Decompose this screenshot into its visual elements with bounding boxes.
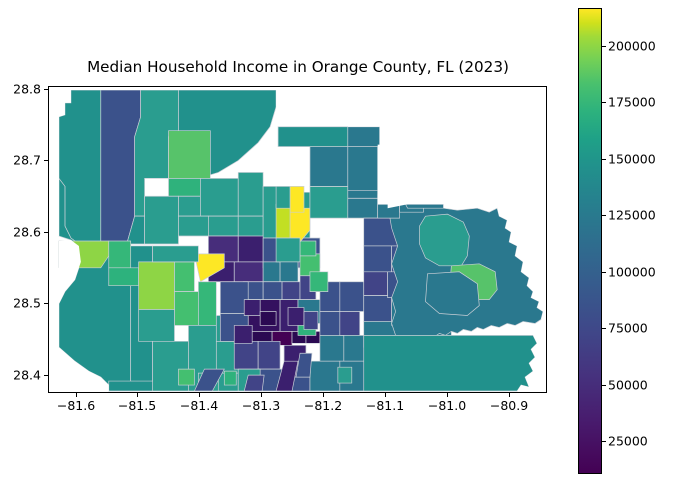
colorbar-ticklabel-25000: 25000 — [608, 434, 648, 449]
x-tick-6 — [447, 393, 448, 397]
x-ticklabel-2: −81.4 — [180, 398, 218, 413]
x-ticklabel-1: −81.5 — [118, 398, 156, 413]
x-ticklabel-6: −81.0 — [428, 398, 466, 413]
colorbar-tick-125000 — [602, 215, 606, 216]
colorbar-ticklabel-200000: 200000 — [608, 39, 656, 54]
x-tick-2 — [199, 393, 200, 397]
x-tick-0 — [76, 393, 77, 397]
colorbar-tick-175000 — [602, 102, 606, 103]
colorbar-tick-50000 — [602, 385, 606, 386]
map-axes — [48, 86, 547, 393]
y-ticklabel-3: 28.5 — [13, 296, 41, 311]
colorbar-ticklabel-75000: 75000 — [608, 321, 648, 336]
y-ticklabel-1: 28.7 — [13, 153, 41, 168]
x-tick-3 — [261, 393, 262, 397]
y-tick-3 — [44, 303, 48, 304]
x-tick-1 — [137, 393, 138, 397]
x-ticklabel-4: −81.2 — [304, 398, 342, 413]
colorbar-tick-25000 — [602, 441, 606, 442]
x-ticklabel-7: −80.9 — [490, 398, 528, 413]
y-tick-2 — [44, 232, 48, 233]
colorbar-ticklabel-175000: 175000 — [608, 95, 656, 110]
x-tick-4 — [323, 393, 324, 397]
y-tick-1 — [44, 160, 48, 161]
x-tick-7 — [509, 393, 510, 397]
y-ticklabel-0: 28.8 — [13, 82, 41, 97]
choropleth-map — [49, 87, 546, 392]
y-ticklabel-4: 28.4 — [13, 368, 41, 383]
x-tick-5 — [385, 393, 386, 397]
y-tick-4 — [44, 375, 48, 376]
y-ticklabel-2: 28.6 — [13, 225, 41, 240]
colorbar-tick-150000 — [602, 159, 606, 160]
colorbar-ticklabel-100000: 100000 — [608, 265, 656, 280]
page-title: Median Household Income in Orange County… — [48, 57, 548, 77]
x-ticklabel-3: −81.3 — [242, 398, 280, 413]
colorbar-ticklabel-50000: 50000 — [608, 378, 648, 393]
colorbar-tick-100000 — [602, 272, 606, 273]
colorbar — [578, 8, 602, 474]
colorbar-ticklabel-125000: 125000 — [608, 208, 656, 223]
colorbar-tick-75000 — [602, 328, 606, 329]
x-ticklabel-0: −81.6 — [57, 398, 95, 413]
y-tick-0 — [44, 89, 48, 90]
colorbar-ticklabel-150000: 150000 — [608, 152, 656, 167]
colorbar-tick-200000 — [602, 46, 606, 47]
matplotlib-figure: Median Household Income in Orange County… — [0, 0, 673, 482]
x-ticklabel-5: −81.1 — [366, 398, 404, 413]
